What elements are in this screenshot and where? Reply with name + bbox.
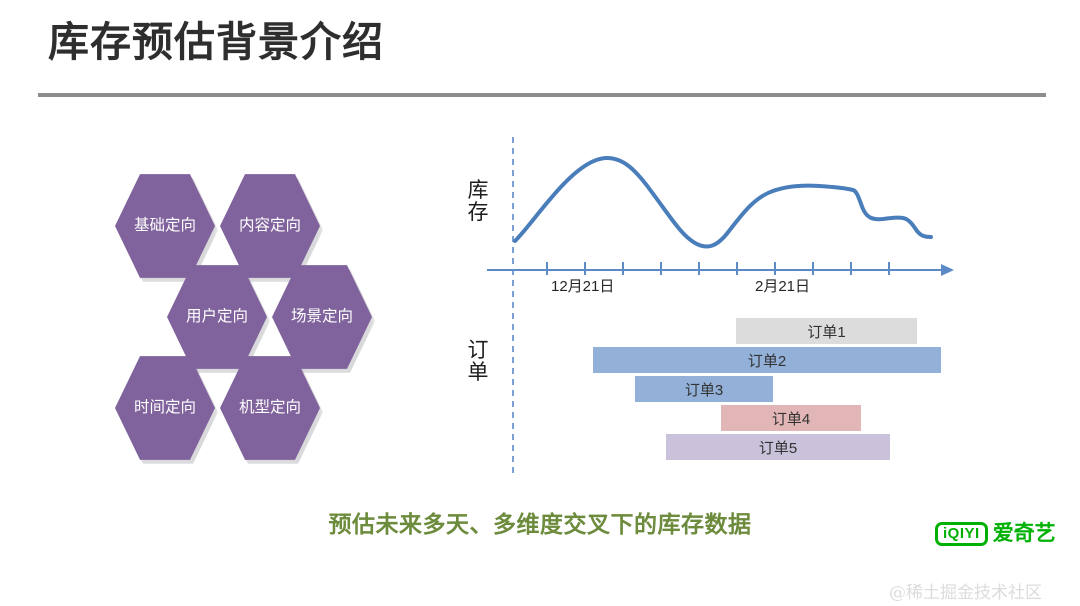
hexagon-label: 基础定向 (134, 217, 196, 235)
inventory-curve (515, 158, 931, 247)
x-tick-label-dec21: 12月21日 (551, 275, 614, 296)
order-bar-label: 订单1 (807, 321, 845, 342)
x-axis-arrow (941, 264, 954, 276)
slide-caption: 预估未来多天、多维度交叉下的库存数据 (0, 505, 1080, 539)
hexagon-label: 内容定向 (239, 217, 301, 235)
order-bar-label: 订单2 (748, 350, 786, 371)
order-bar-2[interactable]: 订单2 (593, 347, 941, 373)
hexagon-label: 用户定向 (186, 308, 248, 326)
slide-canvas: 库存预估背景介绍 基础定向 内容定向 用户定向 场景定向 时间定向 机型定向 库… (0, 0, 1080, 606)
hexagon-label: 机型定向 (239, 399, 301, 417)
x-tick-label-feb21: 2月21日 (755, 275, 810, 296)
x-axis-ticks (547, 262, 889, 275)
order-bar-1[interactable]: 订单1 (736, 318, 917, 344)
order-bar-label: 订单5 (759, 437, 797, 458)
hexagon-label: 时间定向 (134, 399, 196, 417)
order-bar-4[interactable]: 订单4 (721, 405, 861, 431)
order-bar-3[interactable]: 订单3 (635, 376, 773, 402)
targeting-hexagon-cluster: 基础定向 内容定向 用户定向 场景定向 时间定向 机型定向 (110, 165, 410, 465)
iqiyi-logo-mark: iQIYI (935, 522, 988, 546)
iqiyi-logo: iQIYI 爱奇艺 (935, 522, 1056, 546)
order-bar-label: 订单4 (772, 408, 810, 429)
page-title: 库存预估背景介绍 (48, 18, 384, 67)
order-bar-label: 订单3 (685, 379, 723, 400)
iqiyi-logo-text: 爱奇艺 (993, 523, 1056, 544)
inventory-chart-svg (455, 125, 960, 475)
inventory-orders-diagram: 库存 订单 1 (455, 125, 960, 475)
title-divider (38, 93, 1046, 97)
watermark: @稀土掘金技术社区 (889, 578, 1042, 603)
hexagon-label: 场景定向 (291, 308, 353, 326)
order-bar-5[interactable]: 订单5 (666, 434, 890, 460)
